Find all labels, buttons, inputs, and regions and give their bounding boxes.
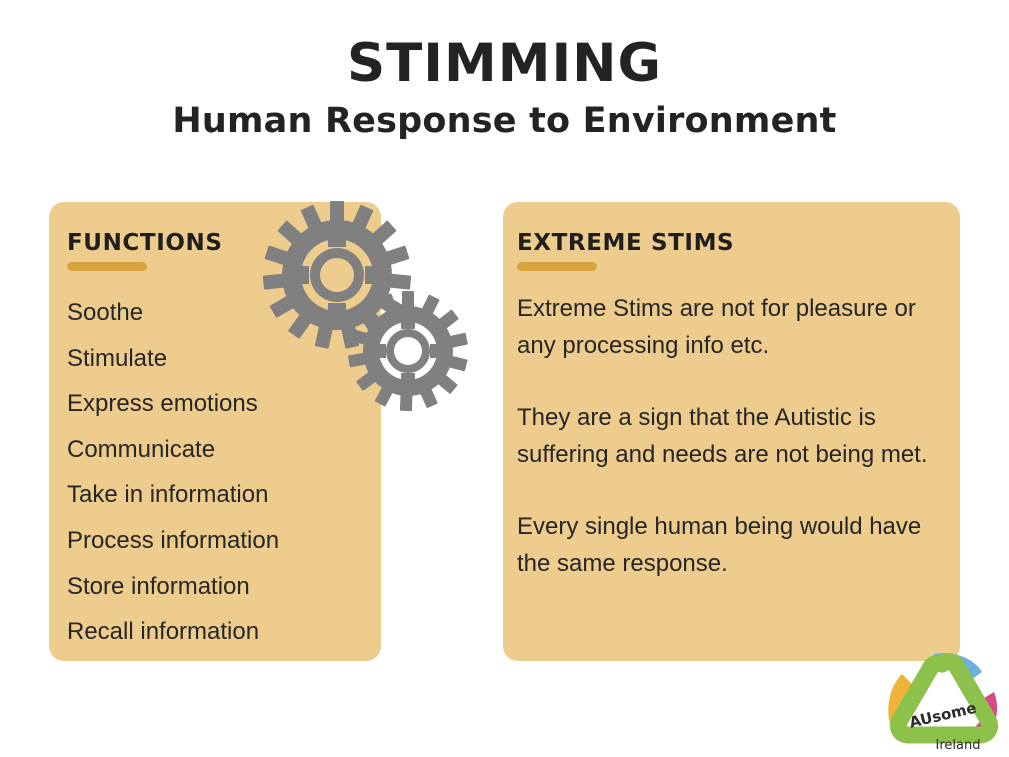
list-item: Process information [67, 518, 381, 564]
extreme-stims-card-heading: EXTREME STIMS [517, 230, 960, 256]
page-title: STIMMING [0, 36, 1009, 91]
paragraph: Every single human being would have the … [517, 509, 942, 582]
paragraph: They are a sign that the Autistic is suf… [517, 400, 942, 473]
functions-list: Soothe Stimulate Express emotions Commun… [67, 290, 381, 655]
extreme-stims-card: EXTREME STIMS Extreme Stims are not for … [503, 202, 960, 661]
title-block: STIMMING Human Response to Environment [0, 36, 1009, 141]
list-item: Recall information [67, 609, 381, 655]
extreme-heading-underline [517, 262, 597, 271]
ausome-ireland-logo: AUsome Ireland [882, 652, 1006, 755]
logo-region-text: Ireland [936, 738, 981, 753]
extreme-stims-body: Extreme Stims are not for pleasure or an… [517, 291, 942, 582]
list-item: Soothe [67, 290, 381, 336]
paragraph: Extreme Stims are not for pleasure or an… [517, 291, 942, 364]
list-item: Store information [67, 564, 381, 610]
list-item: Stimulate [67, 336, 381, 382]
list-item: Express emotions [67, 381, 381, 427]
functions-card-heading: FUNCTIONS [67, 230, 381, 256]
list-item: Take in information [67, 472, 381, 518]
page-subtitle: Human Response to Environment [0, 102, 1009, 141]
functions-card: FUNCTIONS Soothe Stimulate Express emoti… [49, 202, 381, 661]
functions-heading-underline [67, 262, 147, 271]
list-item: Communicate [67, 427, 381, 473]
